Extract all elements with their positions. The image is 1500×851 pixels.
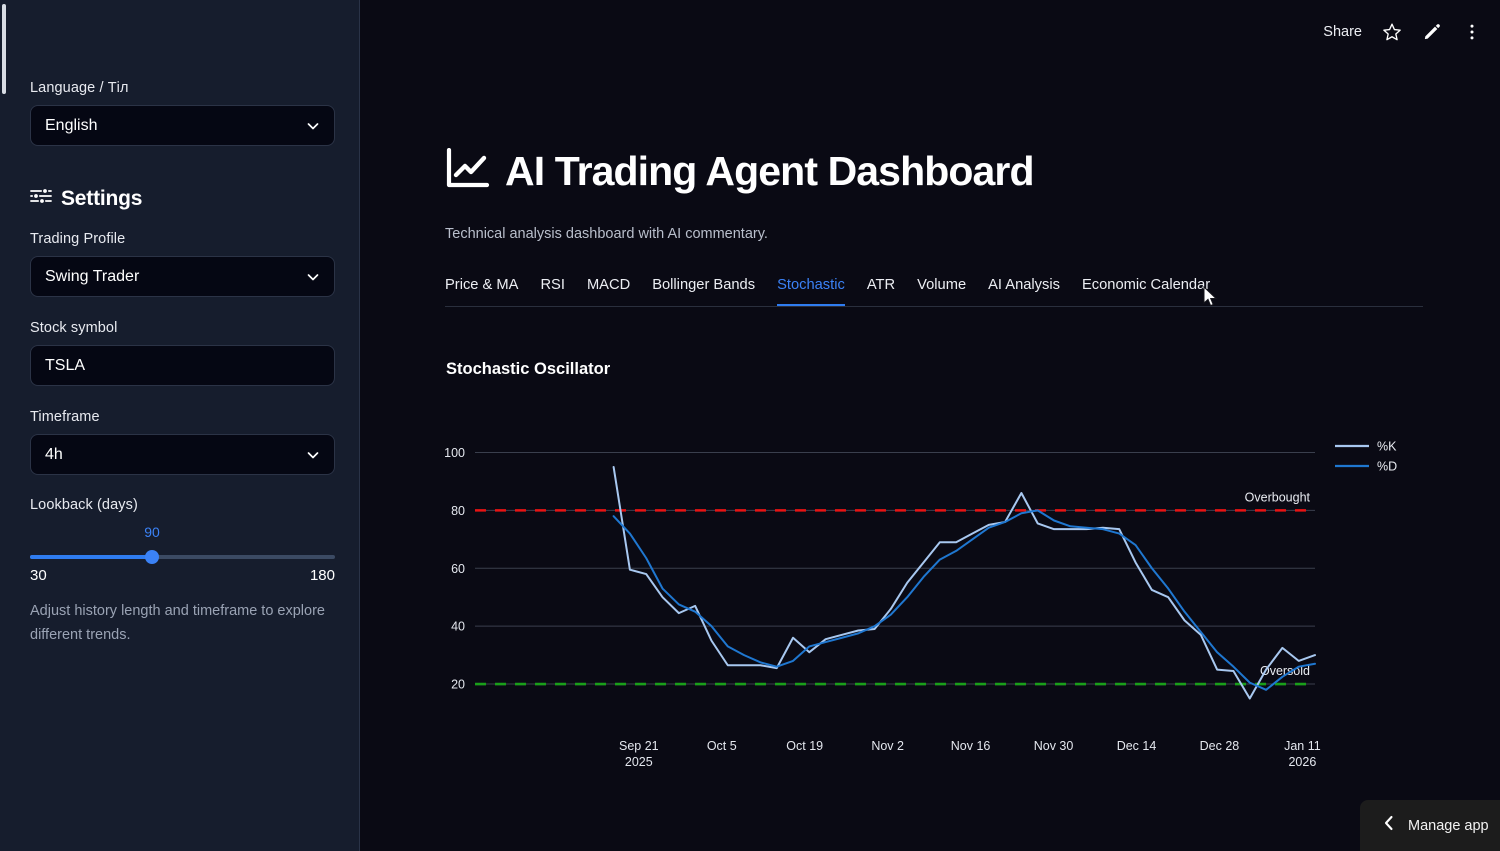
sidebar: Language / Тіл English Settings (0, 0, 360, 851)
manage-app-button[interactable]: Manage app (1360, 800, 1500, 851)
x-axis-tick-label: Dec 28 (1200, 739, 1240, 753)
trading-profile-select[interactable]: Swing Trader (30, 256, 335, 297)
settings-title: Settings (61, 187, 142, 211)
tab-volume[interactable]: Volume (917, 277, 966, 306)
language-label: Language / Тіл (30, 80, 335, 96)
tab-rsi[interactable]: RSI (540, 277, 564, 306)
page-title: AI Trading Agent Dashboard (505, 151, 1034, 192)
trading-profile-block: Trading Profile Swing Trader (30, 231, 335, 297)
lookback-value: 90 (144, 524, 160, 540)
x-axis-tick-label: Nov 16 (951, 739, 991, 753)
x-axis-tick-label: Dec 14 (1117, 739, 1157, 753)
pencil-edit-icon[interactable] (1422, 22, 1442, 42)
legend-label-pct-D[interactable]: %D (1377, 460, 1397, 474)
x-axis-tick-label: Oct 19 (786, 739, 823, 753)
x-axis-tick-label: Nov 30 (1034, 739, 1074, 753)
line-chart-icon (445, 148, 491, 195)
share-button[interactable]: Share (1323, 24, 1362, 40)
y-axis-tick-label: 40 (451, 620, 465, 634)
trading-profile-label: Trading Profile (30, 231, 335, 247)
stock-symbol-label: Stock symbol (30, 320, 335, 336)
y-axis-tick-label: 100 (445, 446, 465, 460)
tab-ai-analysis[interactable]: AI Analysis (988, 277, 1060, 306)
language-value: English (45, 117, 97, 135)
chevron-left-icon (1382, 815, 1396, 836)
y-axis-tick-label: 60 (451, 562, 465, 576)
tab-economic-calendar[interactable]: Economic Calendar (1082, 277, 1210, 306)
slider-fill (30, 555, 152, 559)
timeframe-select[interactable]: 4h (30, 434, 335, 475)
chart-title: Stochastic Oscillator (446, 360, 610, 379)
sidebar-scrollbar[interactable] (2, 4, 6, 94)
legend-label-pct-K[interactable]: %K (1377, 440, 1397, 454)
page-subtitle: Technical analysis dashboard with AI com… (445, 226, 768, 242)
tune-sliders-icon (30, 186, 52, 211)
manage-app-label: Manage app (1408, 818, 1489, 834)
top-toolbar: Share (1323, 18, 1482, 46)
settings-heading-row: Settings (30, 186, 142, 211)
trading-profile-value: Swing Trader (45, 268, 139, 286)
lookback-help-text: Adjust history length and timeframe to e… (30, 600, 340, 647)
language-block: Language / Тіл English (30, 80, 335, 146)
lookback-block: Lookback (days) 90 30 180 (30, 497, 335, 579)
tab-atr[interactable]: ATR (867, 277, 895, 306)
stock-symbol-input[interactable]: TSLA (30, 345, 335, 386)
chart-svg: 20406080100OverboughtOversoldSep 212025O… (445, 398, 1445, 818)
main-content: Share AI Trading Agent Dashboard Technic… (360, 0, 1500, 851)
x-axis-tick-label: Sep 21 (619, 739, 659, 753)
slider-max: 180 (310, 567, 335, 584)
x-axis-tick-label: 2025 (625, 755, 653, 769)
stochastic-chart[interactable]: 20406080100OverboughtOversoldSep 212025O… (445, 398, 1445, 818)
slider-min: 30 (30, 567, 47, 584)
tab-bar: Price & MARSIMACDBollinger BandsStochast… (445, 272, 1423, 307)
slider-thumb[interactable] (145, 550, 159, 564)
timeframe-value: 4h (45, 446, 63, 464)
tab-bollinger-bands[interactable]: Bollinger Bands (652, 277, 755, 306)
series-line-pct-K (614, 467, 1315, 699)
x-axis-tick-label: Jan 11 (1284, 739, 1321, 753)
mouse-cursor (1203, 286, 1219, 308)
page-title-row: AI Trading Agent Dashboard (445, 148, 1034, 195)
x-axis-tick-label: 2026 (1288, 755, 1316, 769)
x-axis-tick-label: Nov 2 (871, 739, 904, 753)
timeframe-block: Timeframe 4h (30, 409, 335, 475)
slider-range: 30 180 (30, 567, 335, 584)
y-axis-tick-label: 80 (451, 504, 465, 518)
chevron-down-icon (305, 269, 321, 285)
tab-price-ma[interactable]: Price & MA (445, 277, 518, 306)
y-axis-tick-label: 20 (451, 678, 465, 692)
more-vertical-icon[interactable] (1462, 22, 1482, 42)
chevron-down-icon (305, 447, 321, 463)
tab-macd[interactable]: MACD (587, 277, 630, 306)
star-icon[interactable] (1382, 22, 1402, 42)
lookback-label: Lookback (days) (30, 497, 335, 513)
stock-symbol-block: Stock symbol TSLA (30, 320, 335, 386)
language-select[interactable]: English (30, 105, 335, 146)
x-axis-tick-label: Oct 5 (707, 739, 737, 753)
threshold-label-overbought: Overbought (1245, 490, 1311, 504)
chevron-down-icon (305, 118, 321, 134)
app-root: Language / Тіл English Settings (0, 0, 1500, 851)
tab-stochastic[interactable]: Stochastic (777, 277, 845, 306)
lookback-slider[interactable]: 90 30 180 (30, 529, 335, 579)
timeframe-label: Timeframe (30, 409, 335, 425)
